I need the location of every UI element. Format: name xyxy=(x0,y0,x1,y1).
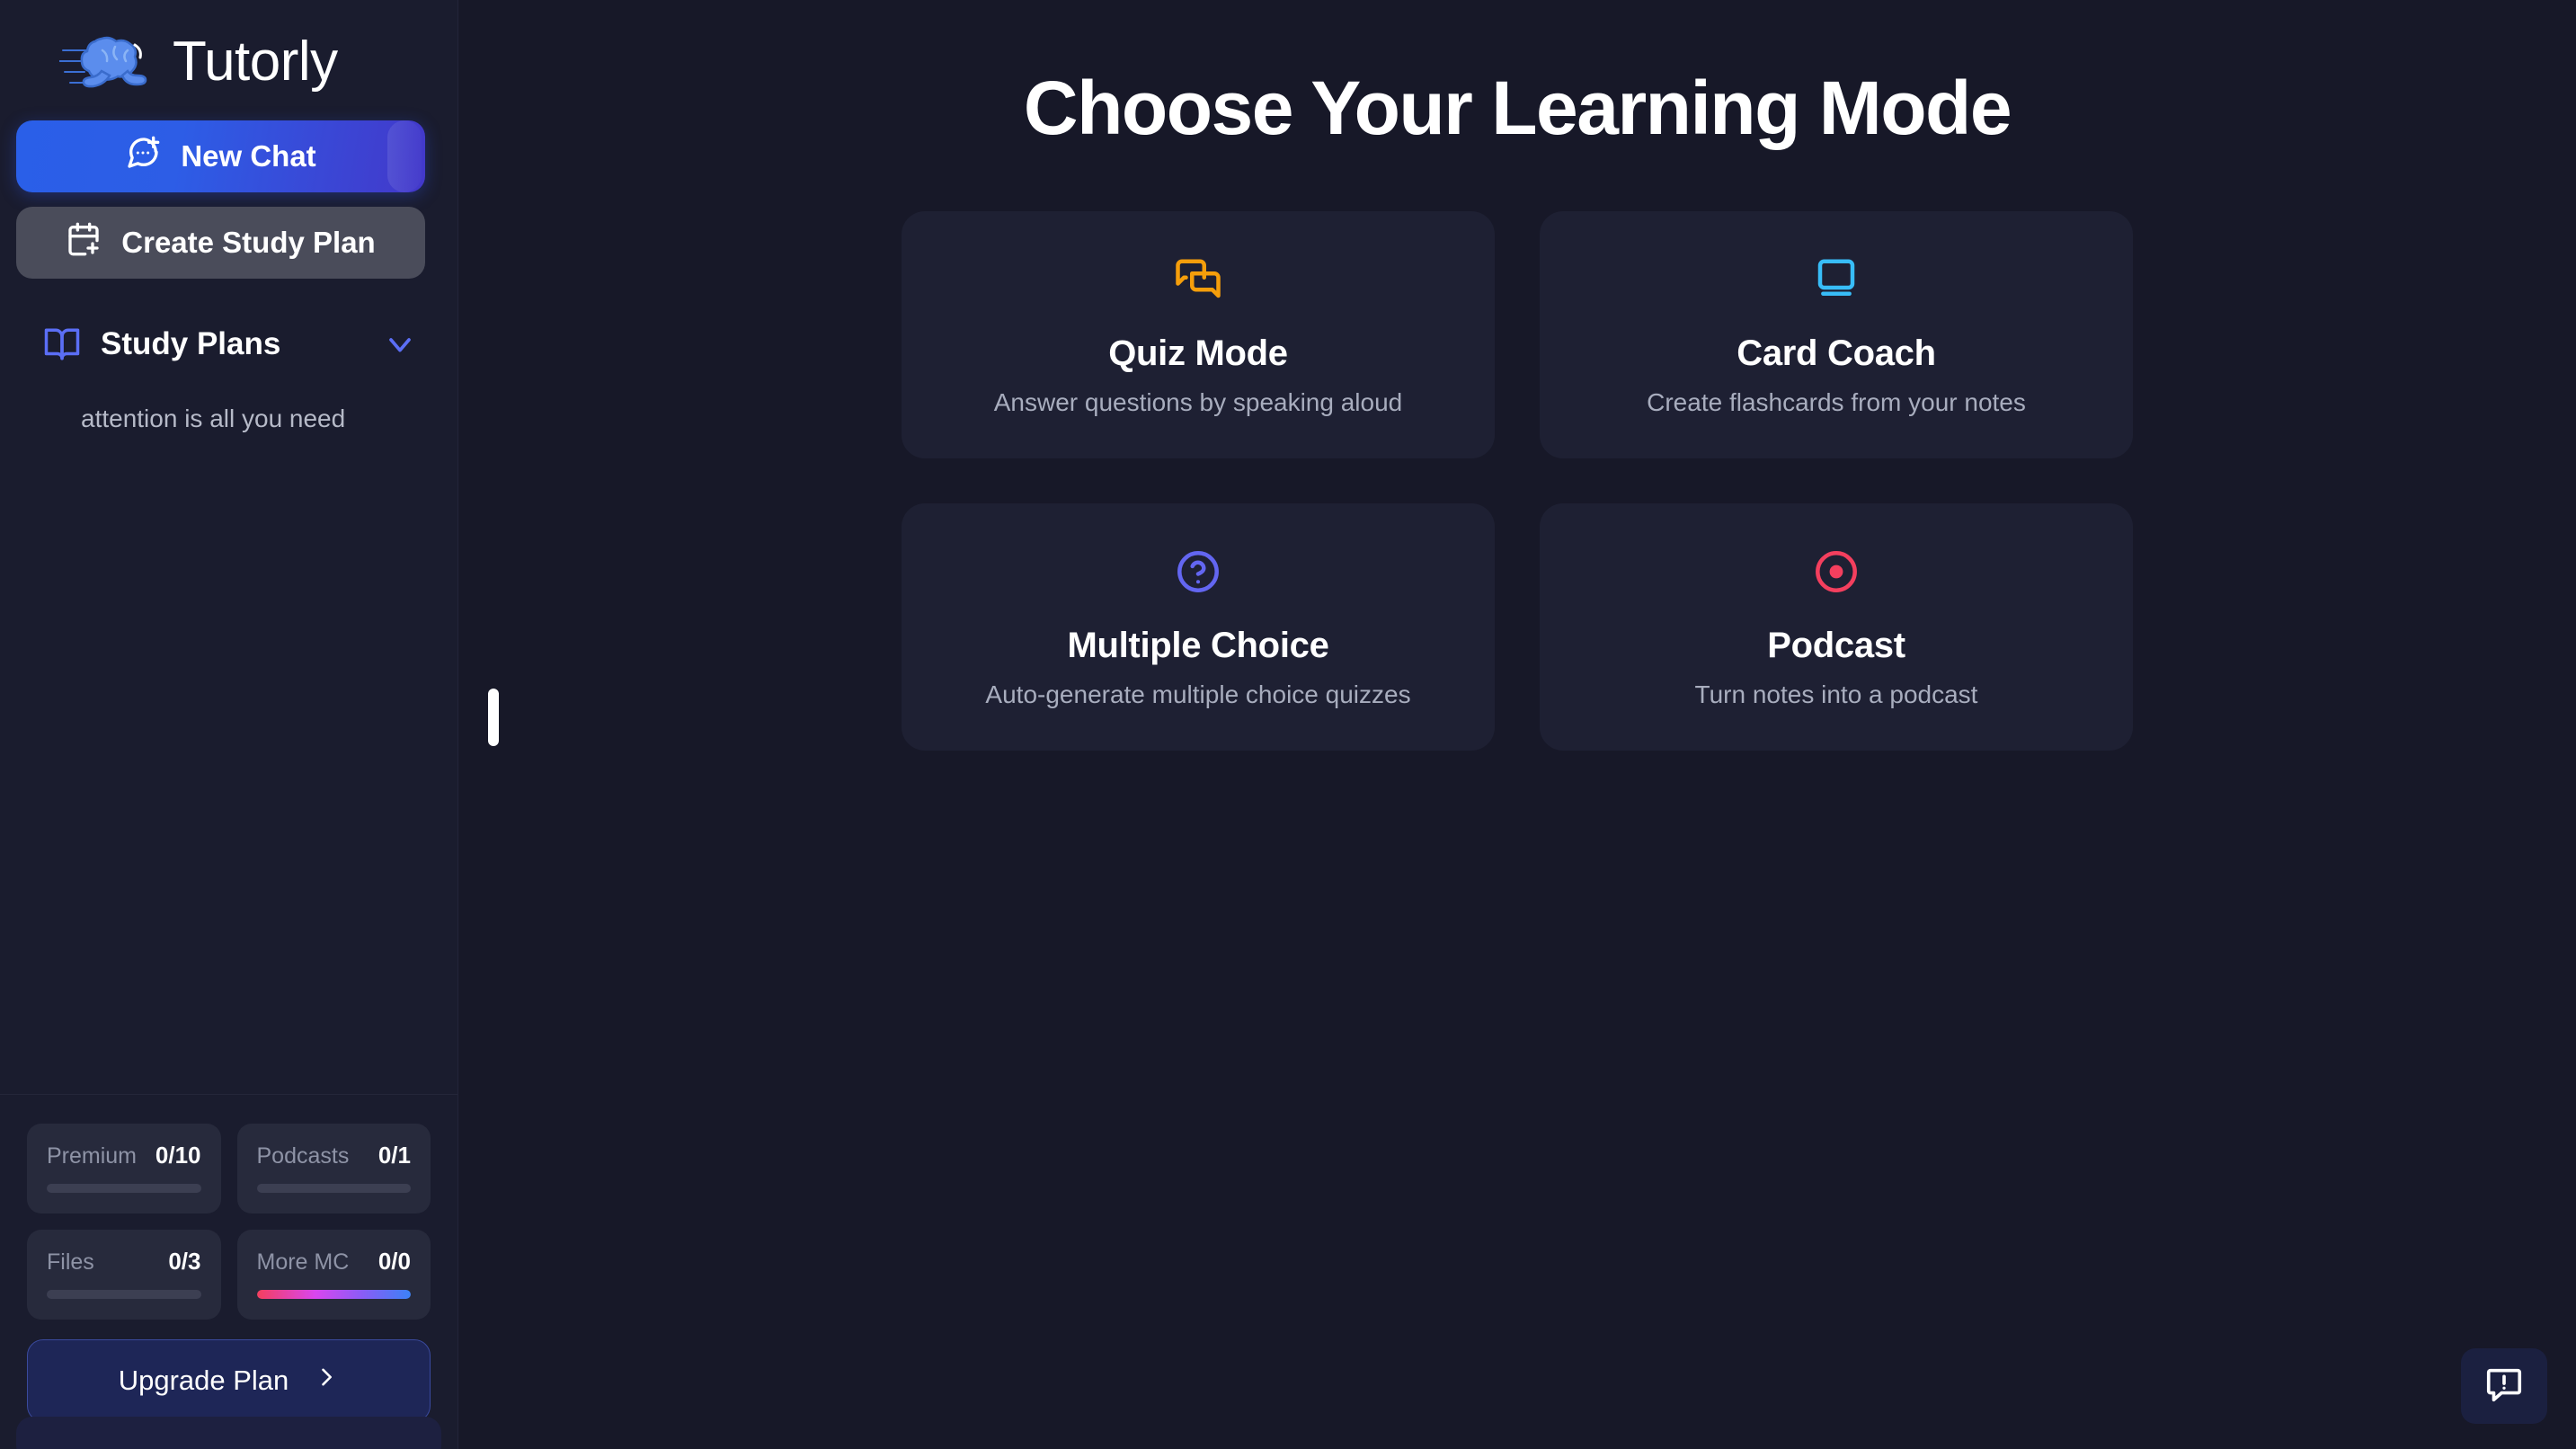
running-brain-logo xyxy=(59,23,155,101)
mode-title: Multiple Choice xyxy=(1067,626,1328,666)
brand-title: Tutorly xyxy=(173,34,338,90)
study-plans-label: Study Plans xyxy=(101,326,362,362)
mode-card-card-coach[interactable]: Card Coach Create flashcards from your n… xyxy=(1540,211,2133,458)
mode-description: Auto-generate multiple choice quizzes xyxy=(985,680,1410,709)
page-title: Choose Your Learning Mode xyxy=(1024,65,2011,152)
main-content: Choose Your Learning Mode Quiz Mode Answ… xyxy=(458,0,2576,1449)
usage-value: 0/0 xyxy=(378,1248,411,1276)
upgrade-plan-label: Upgrade Plan xyxy=(119,1365,289,1397)
mode-description: Create flashcards from your notes xyxy=(1647,388,2026,417)
study-plans-toggle[interactable]: Study Plans xyxy=(31,320,423,369)
mode-title: Quiz Mode xyxy=(1108,333,1288,374)
usage-section: Premium 0/10 Podcasts 0/1 Files 0/3 xyxy=(0,1094,457,1320)
create-study-plan-button[interactable]: Create Study Plan xyxy=(16,207,425,279)
mode-description: Answer questions by speaking aloud xyxy=(994,388,1403,417)
mode-card-multiple-choice[interactable]: Multiple Choice Auto-generate multiple c… xyxy=(902,503,1495,751)
record-circle-icon xyxy=(1812,545,1861,599)
chevron-right-icon xyxy=(314,1365,339,1397)
usage-card-files[interactable]: Files 0/3 xyxy=(27,1230,221,1320)
study-plan-list: attention is all you need xyxy=(31,397,423,440)
usage-value: 0/3 xyxy=(168,1248,200,1276)
brand[interactable]: Tutorly xyxy=(0,0,457,120)
messages-square-icon xyxy=(1174,253,1222,307)
study-plans-section: Study Plans attention is all you need xyxy=(0,320,457,440)
usage-progress-bar xyxy=(257,1290,412,1299)
sidebar-collapse-handle[interactable] xyxy=(488,689,499,746)
sidebar-bottom-panel xyxy=(16,1417,441,1449)
usage-grid: Premium 0/10 Podcasts 0/1 Files 0/3 xyxy=(27,1124,431,1320)
mode-card-quiz-mode[interactable]: Quiz Mode Answer questions by speaking a… xyxy=(902,211,1495,458)
usage-label: Podcasts xyxy=(257,1143,350,1169)
app-root: Tutorly New Chat xyxy=(0,0,2576,1449)
message-plus-icon xyxy=(125,135,161,178)
chevron-down-icon[interactable] xyxy=(382,326,418,362)
learning-mode-grid: Quiz Mode Answer questions by speaking a… xyxy=(902,211,2133,751)
usage-progress-bar xyxy=(47,1290,201,1299)
mode-title: Card Coach xyxy=(1737,333,1936,374)
new-chat-button[interactable]: New Chat xyxy=(16,120,425,192)
calendar-plus-icon xyxy=(66,221,102,264)
usage-progress-bar xyxy=(257,1184,412,1193)
usage-card-premium[interactable]: Premium 0/10 xyxy=(27,1124,221,1213)
sidebar: Tutorly New Chat xyxy=(0,0,458,1449)
message-alert-icon xyxy=(2483,1364,2525,1409)
mode-description: Turn notes into a podcast xyxy=(1695,680,1978,709)
usage-label: Files xyxy=(47,1249,94,1276)
usage-card-podcasts[interactable]: Podcasts 0/1 xyxy=(237,1124,431,1213)
mode-card-podcast[interactable]: Podcast Turn notes into a podcast xyxy=(1540,503,2133,751)
sidebar-spacer xyxy=(0,440,457,1094)
feedback-button[interactable] xyxy=(2461,1348,2547,1424)
circle-question-mark-icon xyxy=(1174,545,1222,599)
usage-card-more-mc[interactable]: More MC 0/0 xyxy=(237,1230,431,1320)
usage-label: More MC xyxy=(257,1249,350,1276)
usage-value: 0/1 xyxy=(378,1142,411,1169)
usage-progress-bar xyxy=(47,1184,201,1193)
new-chat-label: New Chat xyxy=(181,139,315,173)
book-open-icon xyxy=(43,325,81,363)
mode-title: Podcast xyxy=(1767,626,1905,666)
gallery-vertical-end-icon xyxy=(1812,253,1861,307)
upgrade-plan-button[interactable]: Upgrade Plan xyxy=(27,1339,431,1422)
usage-label: Premium xyxy=(47,1143,137,1169)
create-study-plan-label: Create Study Plan xyxy=(121,226,375,260)
usage-value: 0/10 xyxy=(155,1142,201,1169)
list-item[interactable]: attention is all you need xyxy=(81,397,423,440)
